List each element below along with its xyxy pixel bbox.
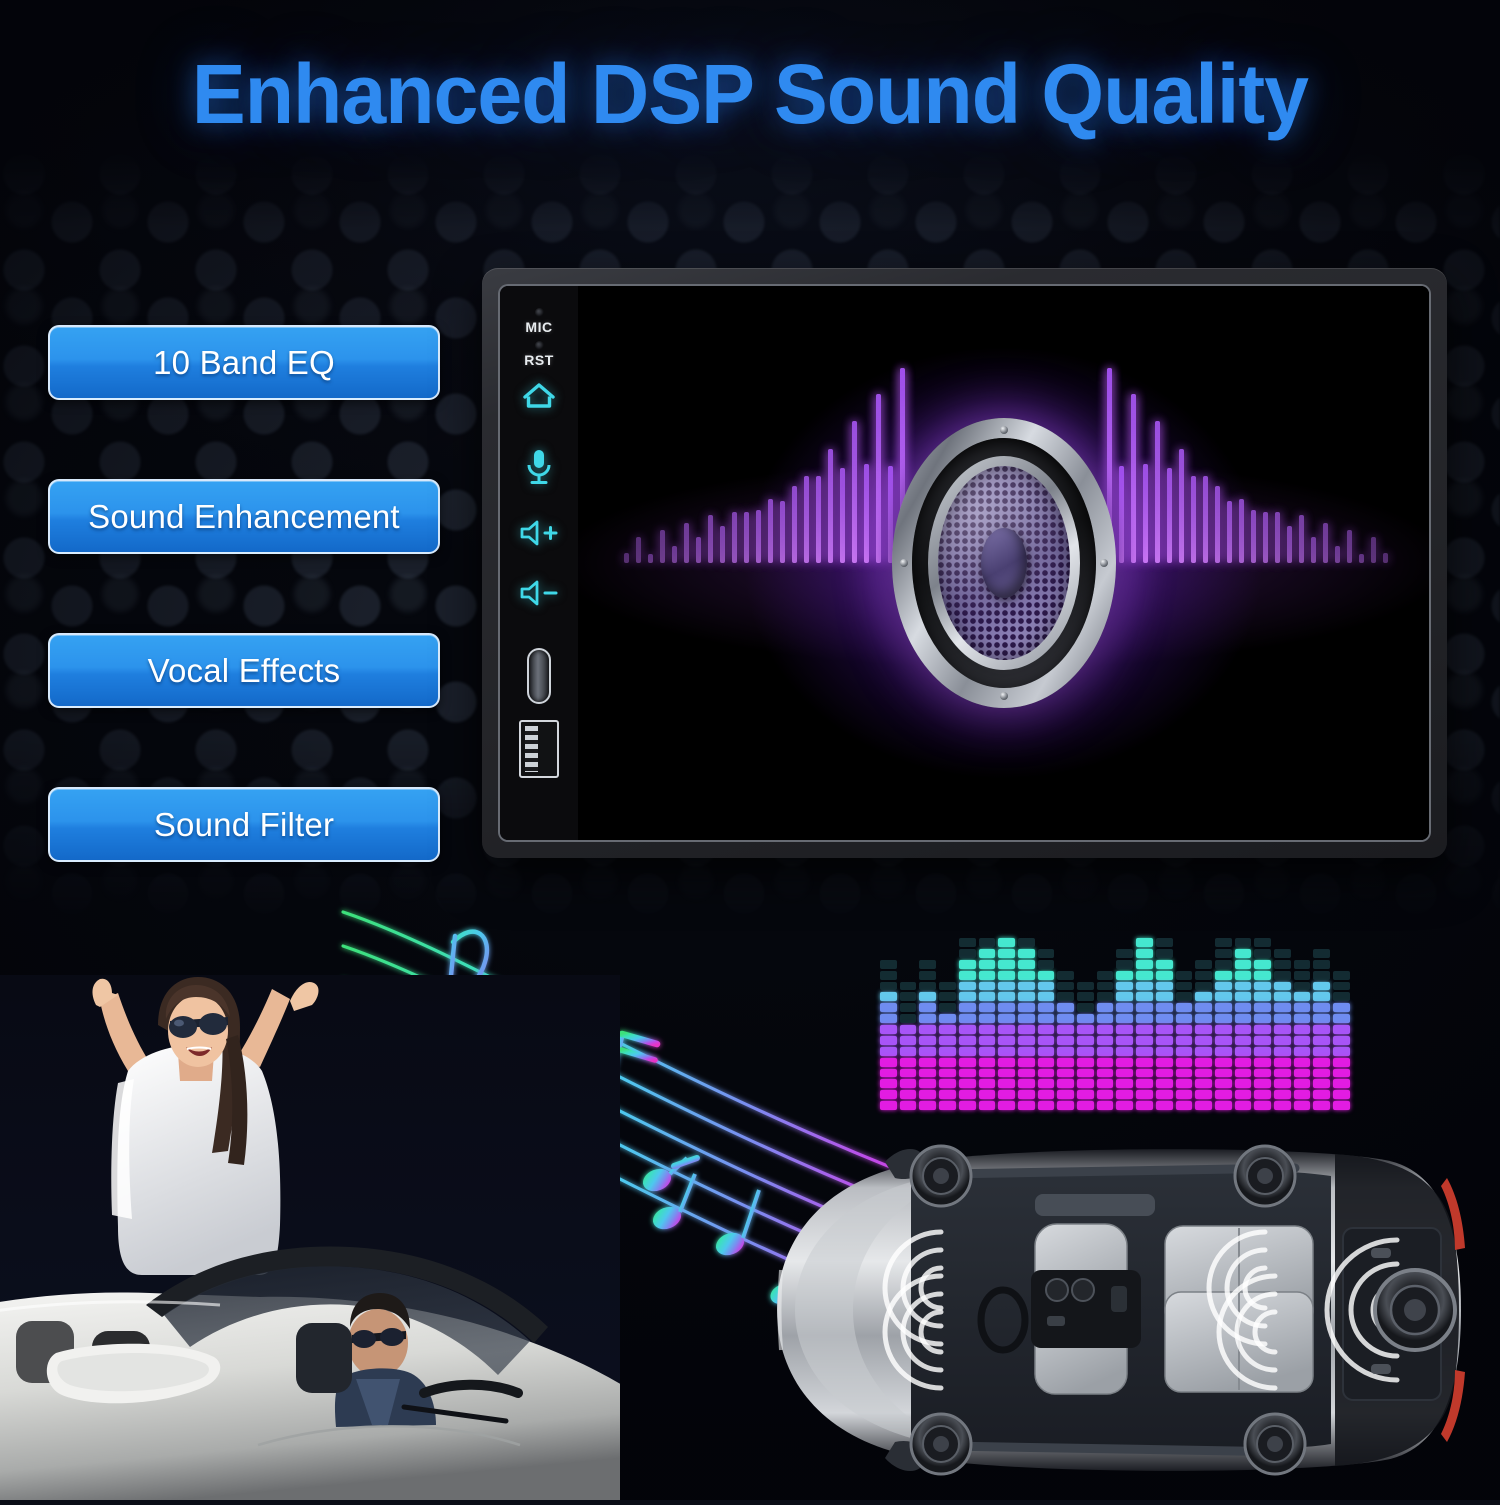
equalizer-cell <box>1018 960 1035 969</box>
equalizer-cell <box>1176 1069 1193 1078</box>
equalizer-cell <box>998 1101 1015 1110</box>
equalizer-cell <box>1018 1025 1035 1034</box>
page-title: Enhanced DSP Sound Quality <box>30 46 1470 143</box>
equalizer-cell <box>1313 1003 1330 1012</box>
equalizer-cell <box>959 971 976 980</box>
equalizer-cell <box>1195 949 1212 958</box>
equalizer-cell <box>979 992 996 1001</box>
equalizer-cell <box>1136 1003 1153 1012</box>
equalizer-cell <box>1116 1025 1133 1034</box>
cone-screw <box>1100 559 1108 567</box>
equalizer-cell <box>1038 1003 1055 1012</box>
equalizer-cell <box>1038 1090 1055 1099</box>
equalizer-cell <box>1176 971 1193 980</box>
equalizer-cell <box>1274 938 1291 947</box>
equalizer-cell <box>1195 1069 1212 1078</box>
feature-label: Sound Filter <box>154 806 334 844</box>
equalizer-cell <box>1018 1058 1035 1067</box>
equalizer-cell <box>919 1058 936 1067</box>
equalizer-cell <box>1274 982 1291 991</box>
equalizer-cell <box>979 1014 996 1023</box>
equalizer-cell <box>1235 1101 1252 1110</box>
equalizer-cell <box>1333 992 1350 1001</box>
equalizer-cell <box>1097 1058 1114 1067</box>
equalizer-cell <box>1116 938 1133 947</box>
equalizer-bar <box>1018 938 1035 1110</box>
equalizer-cell <box>880 960 897 969</box>
equalizer-cell <box>1057 1090 1074 1099</box>
equalizer-cell <box>1333 949 1350 958</box>
equalizer-cell <box>959 1014 976 1023</box>
head-unit-inner-bezel: MIC RST <box>498 284 1431 842</box>
cone-screw <box>900 559 908 567</box>
equalizer-cell <box>1097 1036 1114 1045</box>
equalizer-cell <box>1294 971 1311 980</box>
equalizer-cell <box>900 1069 917 1078</box>
equalizer-cell <box>880 971 897 980</box>
equalizer-cell <box>939 971 956 980</box>
equalizer-cell <box>1313 1036 1330 1045</box>
equalizer-cell <box>1333 1079 1350 1088</box>
feature-button-vocal-effects[interactable]: Vocal Effects <box>48 633 440 708</box>
waveform-bar <box>1383 553 1388 563</box>
equalizer-cell <box>900 1047 917 1056</box>
equalizer-cell <box>1038 1101 1055 1110</box>
equalizer-cell <box>959 938 976 947</box>
equalizer-cell <box>1176 949 1193 958</box>
equalizer-cell <box>979 949 996 958</box>
equalizer-cell <box>1313 1101 1330 1110</box>
equalizer-cell <box>959 949 976 958</box>
equalizer-cell <box>1294 992 1311 1001</box>
equalizer-cell <box>1254 1014 1271 1023</box>
equalizer-cell <box>900 938 917 947</box>
equalizer-cell <box>1333 1058 1350 1067</box>
equalizer-cell <box>900 1101 917 1110</box>
home-icon <box>521 380 557 412</box>
equalizer-cell <box>1274 1036 1291 1045</box>
equalizer-cell <box>1116 949 1133 958</box>
volume-up-button[interactable] <box>500 518 578 548</box>
equalizer-cell <box>1274 1025 1291 1034</box>
equalizer-cell <box>1195 1101 1212 1110</box>
equalizer-cell <box>1333 960 1350 969</box>
waveform-bar <box>1275 512 1280 563</box>
volume-down-button[interactable] <box>500 578 578 608</box>
equalizer-cell <box>900 982 917 991</box>
waveform-bar <box>1251 510 1256 563</box>
equalizer-bar <box>1215 938 1232 1110</box>
equalizer-cell <box>1274 1090 1291 1099</box>
equalizer-cell <box>1116 1014 1133 1023</box>
equalizer-cell <box>1294 1036 1311 1045</box>
equalizer-cell <box>1116 982 1133 991</box>
equalizer-cell <box>1333 938 1350 947</box>
equalizer-cell <box>998 1003 1015 1012</box>
home-button[interactable] <box>500 380 578 412</box>
equalizer-cell <box>1038 992 1055 1001</box>
equalizer-bar <box>1156 938 1173 1110</box>
cone-screw <box>1000 692 1008 700</box>
equalizer-cell <box>979 1047 996 1056</box>
equalizer-cell <box>1156 1079 1173 1088</box>
equalizer-cell <box>1038 1036 1055 1045</box>
car-stereo-head-unit: MIC RST <box>482 268 1447 858</box>
equalizer-cell <box>1038 1014 1055 1023</box>
equalizer-cell <box>919 1090 936 1099</box>
equalizer-cell <box>900 1090 917 1099</box>
equalizer-cell <box>939 992 956 1001</box>
equalizer-cell <box>1254 1101 1271 1110</box>
waveform-right <box>1089 286 1389 840</box>
equalizer-cell <box>900 960 917 969</box>
equalizer-cell <box>979 960 996 969</box>
equalizer-cell <box>1116 992 1133 1001</box>
equalizer-cell <box>900 1025 917 1034</box>
equalizer-bar <box>880 938 897 1110</box>
waveform-bar <box>660 530 665 563</box>
speaker-front-right <box>911 1414 971 1474</box>
equalizer-bar <box>1274 938 1291 1110</box>
equalizer-cell <box>1136 1079 1153 1088</box>
equalizer-cell <box>1057 1014 1074 1023</box>
equalizer-cell <box>1235 960 1252 969</box>
equalizer-cell <box>1215 1047 1232 1056</box>
equalizer-cell <box>1077 1014 1094 1023</box>
mic-label: MIC <box>500 319 578 335</box>
waveform-bar <box>636 537 641 563</box>
waveform-bar <box>1239 499 1244 563</box>
equalizer-cell <box>939 1003 956 1012</box>
equalizer-cell <box>1116 1003 1133 1012</box>
equalizer-cell <box>1215 1090 1232 1099</box>
equalizer-cell <box>1333 982 1350 991</box>
equalizer-cell <box>1235 1058 1252 1067</box>
waveform-bar <box>768 499 773 563</box>
equalizer-cell <box>1136 938 1153 947</box>
equalizer-bar <box>1057 938 1074 1110</box>
equalizer-cell <box>1294 949 1311 958</box>
equalizer-cell <box>1057 1069 1074 1078</box>
equalizer-cell <box>1215 992 1232 1001</box>
equalizer-cell <box>1254 1003 1271 1012</box>
equalizer-cell <box>1097 992 1114 1001</box>
equalizer-cell <box>1274 1058 1291 1067</box>
equalizer-cell <box>1274 1014 1291 1023</box>
feature-button-sound-enhancement[interactable]: Sound Enhancement <box>48 479 440 554</box>
equalizer-cell <box>1313 1025 1330 1034</box>
equalizer-bar <box>1294 938 1311 1110</box>
equalizer-cell <box>1215 960 1232 969</box>
equalizer-cell <box>1313 1014 1330 1023</box>
equalizer-cell <box>1176 992 1193 1001</box>
equalizer-cell <box>1333 1014 1350 1023</box>
equalizer-cell <box>1057 1047 1074 1056</box>
equalizer-cell <box>1097 1003 1114 1012</box>
waveform-bar <box>672 546 677 563</box>
equalizer-cell <box>979 1025 996 1034</box>
equalizer-cell <box>1136 992 1153 1001</box>
equalizer-cell <box>1195 982 1212 991</box>
usb-c-port[interactable] <box>527 648 551 704</box>
equalizer-cell <box>1176 960 1193 969</box>
equalizer-cell <box>1156 971 1173 980</box>
feature-button-sound-filter[interactable]: Sound Filter <box>48 787 440 862</box>
equalizer-cell <box>998 1014 1015 1023</box>
equalizer-cell <box>1156 1090 1173 1099</box>
equalizer-cell <box>1274 971 1291 980</box>
equalizer-cell <box>1156 1003 1173 1012</box>
equalizer-cell <box>1176 1090 1193 1099</box>
equalizer-cell <box>1038 1079 1055 1088</box>
equalizer-cell <box>880 1069 897 1078</box>
equalizer-cell <box>1294 938 1311 947</box>
equalizer-cell <box>1038 1047 1055 1056</box>
equalizer-cell <box>1018 949 1035 958</box>
waveform-bar <box>1119 466 1124 563</box>
equalizer-cell <box>1195 1014 1212 1023</box>
equalizer-cell <box>880 1101 897 1110</box>
equalizer-cell <box>959 982 976 991</box>
equalizer-cell <box>1195 1090 1212 1099</box>
waveform-bar <box>792 486 797 563</box>
equalizer-cell <box>979 1036 996 1045</box>
equalizer-cell <box>1116 1058 1133 1067</box>
equalizer-cell <box>1294 1058 1311 1067</box>
equalizer-cell <box>1156 938 1173 947</box>
equalizer-cell <box>880 1047 897 1056</box>
equalizer-cell <box>1077 1069 1094 1078</box>
equalizer-cell <box>1116 1047 1133 1056</box>
equalizer-bar <box>1176 938 1193 1110</box>
head-unit-screen[interactable] <box>578 286 1429 840</box>
equalizer-cell <box>979 1079 996 1088</box>
equalizer-chart <box>880 938 1350 1110</box>
equalizer-cell <box>1235 1014 1252 1023</box>
equalizer-cell <box>919 971 936 980</box>
equalizer-cell <box>1274 1101 1291 1110</box>
equalizer-cell <box>1254 1058 1271 1067</box>
equalizer-cell <box>919 1069 936 1078</box>
equalizer-cell <box>939 1047 956 1056</box>
equalizer-cell <box>1077 1036 1094 1045</box>
waveform-bar <box>1263 512 1268 563</box>
equalizer-cell <box>998 1090 1015 1099</box>
equalizer-cell <box>900 1003 917 1012</box>
equalizer-cell <box>1077 1101 1094 1110</box>
equalizer-cell <box>959 992 976 1001</box>
equalizer-cell <box>1077 992 1094 1001</box>
equalizer-cell <box>1097 1014 1114 1023</box>
equalizer-cell <box>1274 1047 1291 1056</box>
waveform-bar <box>1359 554 1364 563</box>
waveform-bar <box>1131 394 1136 563</box>
waveform-bar <box>804 476 809 563</box>
equalizer-cell <box>1097 1101 1114 1110</box>
equalizer-cell <box>1176 1047 1193 1056</box>
equalizer-bar <box>1254 938 1271 1110</box>
equalizer-cell <box>1235 1003 1252 1012</box>
equalizer-cell <box>998 960 1015 969</box>
equalizer-cell <box>1018 1047 1035 1056</box>
equalizer-cell <box>959 1058 976 1067</box>
equalizer-cell <box>1254 982 1271 991</box>
equalizer-cell <box>880 949 897 958</box>
equalizer-cell <box>1057 960 1074 969</box>
feature-list: 10 Band EQ Sound Enhancement Vocal Effec… <box>48 325 440 862</box>
usb-a-port[interactable] <box>519 720 559 778</box>
equalizer-cell <box>1077 1025 1094 1034</box>
equalizer-cell <box>1333 1090 1350 1099</box>
equalizer-cell <box>919 982 936 991</box>
head-unit-control-strip: MIC RST <box>500 286 578 840</box>
equalizer-cell <box>1176 1003 1193 1012</box>
equalizer-cell <box>900 971 917 980</box>
equalizer-cell <box>1156 949 1173 958</box>
equalizer-cell <box>1077 971 1094 980</box>
equalizer-cell <box>998 1069 1015 1078</box>
equalizer-cell <box>1116 960 1133 969</box>
equalizer-cell <box>1215 1058 1232 1067</box>
waveform-bar <box>840 468 845 563</box>
speaker-rear-right <box>1245 1414 1305 1474</box>
lifestyle-photo-convertible <box>0 975 620 1500</box>
equalizer-cell <box>1195 1047 1212 1056</box>
equalizer-cell <box>880 938 897 947</box>
equalizer-cell <box>998 982 1015 991</box>
equalizer-cell <box>919 949 936 958</box>
equalizer-cell <box>1038 1069 1055 1078</box>
equalizer-bar <box>998 938 1015 1110</box>
equalizer-cell <box>1313 971 1330 980</box>
car-audio-top-view <box>735 1120 1495 1500</box>
equalizer-cell <box>1313 982 1330 991</box>
equalizer-cell <box>919 1025 936 1034</box>
equalizer-cell <box>900 1014 917 1023</box>
equalizer-cell <box>1038 1058 1055 1067</box>
equalizer-cell <box>900 949 917 958</box>
equalizer-cell <box>1176 938 1193 947</box>
equalizer-cell <box>1254 992 1271 1001</box>
equalizer-cell <box>1195 992 1212 1001</box>
equalizer-cell <box>1097 1069 1114 1078</box>
feature-label: Sound Enhancement <box>88 498 400 536</box>
equalizer-cell <box>1018 938 1035 947</box>
equalizer-cell <box>900 992 917 1001</box>
speaker-rear-left <box>1235 1146 1295 1206</box>
feature-button-10-band-eq[interactable]: 10 Band EQ <box>48 325 440 400</box>
equalizer-bar <box>919 938 936 1110</box>
waveform-bar <box>1299 515 1304 563</box>
volume-up-icon <box>518 518 560 548</box>
voice-button[interactable] <box>500 448 578 486</box>
equalizer-cell <box>1254 938 1271 947</box>
equalizer-bar <box>939 938 956 1110</box>
waveform-bar <box>648 554 653 563</box>
equalizer-cell <box>1294 1090 1311 1099</box>
equalizer-cell <box>1333 1036 1350 1045</box>
waveform-bar <box>1347 530 1352 563</box>
equalizer-cell <box>1235 1036 1252 1045</box>
equalizer-cell <box>1136 982 1153 991</box>
equalizer-cell <box>1333 971 1350 980</box>
equalizer-cell <box>1057 949 1074 958</box>
equalizer-cell <box>1018 1014 1035 1023</box>
equalizer-cell <box>900 1079 917 1088</box>
equalizer-bar <box>1116 938 1133 1110</box>
equalizer-cell <box>1057 992 1074 1001</box>
equalizer-cell <box>979 938 996 947</box>
equalizer-cell <box>1077 1003 1094 1012</box>
equalizer-cell <box>1274 992 1291 1001</box>
equalizer-cell <box>1333 1003 1350 1012</box>
equalizer-cell <box>1215 949 1232 958</box>
waveform-bar <box>864 464 869 563</box>
equalizer-cell <box>998 938 1015 947</box>
equalizer-cell <box>959 1101 976 1110</box>
equalizer-cell <box>1235 971 1252 980</box>
equalizer-cell <box>998 971 1015 980</box>
equalizer-cell <box>1057 1058 1074 1067</box>
equalizer-cell <box>1136 1047 1153 1056</box>
speaker-front-left <box>911 1146 971 1206</box>
equalizer-cell <box>1215 1036 1232 1045</box>
equalizer-cell <box>1136 1090 1153 1099</box>
equalizer-cell <box>1294 1025 1311 1034</box>
equalizer-cell <box>1176 1025 1193 1034</box>
equalizer-cell <box>1254 1069 1271 1078</box>
equalizer-cell <box>1215 971 1232 980</box>
equalizer-cell <box>959 1069 976 1078</box>
waveform-bar <box>1371 537 1376 563</box>
equalizer-cell <box>1057 938 1074 947</box>
equalizer-cell <box>900 1036 917 1045</box>
equalizer-cell <box>1215 1101 1232 1110</box>
equalizer-cell <box>1235 949 1252 958</box>
equalizer-cell <box>1235 938 1252 947</box>
equalizer-cell <box>1018 1069 1035 1078</box>
equalizer-cell <box>1195 1079 1212 1088</box>
equalizer-cell <box>1136 949 1153 958</box>
waveform-bar <box>744 512 749 563</box>
equalizer-cell <box>979 1003 996 1012</box>
reset-pinhole[interactable] <box>535 341 544 350</box>
equalizer-cell <box>1057 971 1074 980</box>
equalizer-cell <box>1057 1036 1074 1045</box>
waveform-bar <box>1335 546 1340 563</box>
equalizer-cell <box>1057 982 1074 991</box>
equalizer-cell <box>1215 1079 1232 1088</box>
equalizer-cell <box>959 1079 976 1088</box>
equalizer-cell <box>1136 1025 1153 1034</box>
equalizer-cell <box>1136 1069 1153 1078</box>
equalizer-cell <box>998 1047 1015 1056</box>
equalizer-cell <box>880 1025 897 1034</box>
equalizer-cell <box>1176 1036 1193 1045</box>
equalizer-cell <box>1156 982 1173 991</box>
equalizer-cell <box>1254 971 1271 980</box>
equalizer-cell <box>1097 938 1114 947</box>
equalizer-cell <box>939 1079 956 1088</box>
equalizer-cell <box>1274 1003 1291 1012</box>
equalizer-cell <box>1077 1090 1094 1099</box>
equalizer-cell <box>1116 1069 1133 1078</box>
equalizer-cell <box>919 992 936 1001</box>
waveform-bar <box>876 394 881 563</box>
equalizer-cell <box>1077 1058 1094 1067</box>
equalizer-cell <box>1038 949 1055 958</box>
equalizer-cell <box>1294 982 1311 991</box>
